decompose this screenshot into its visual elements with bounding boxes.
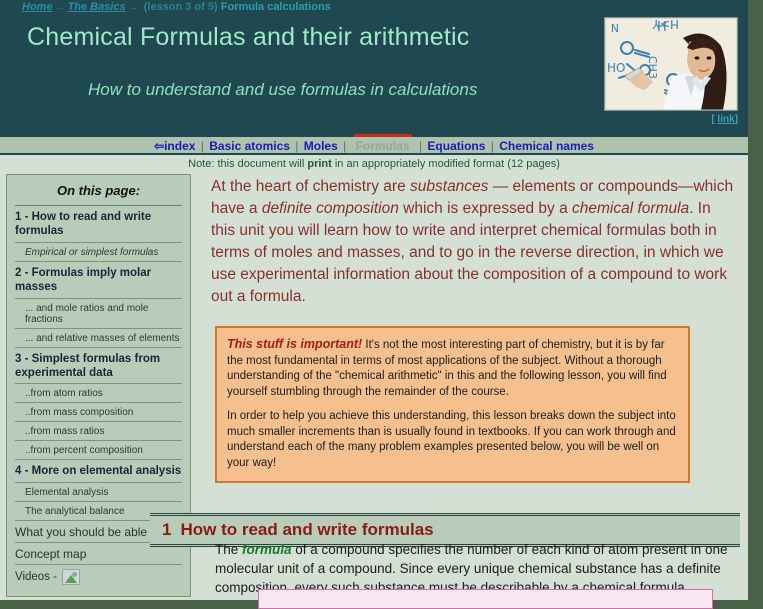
print-note-after: in an appropriately modified format (12 … [332,158,560,170]
callout-paragraph-2: In order to help you achieve this unders… [227,409,678,471]
nav-item-index[interactable]: ⇦index [154,139,195,153]
intro-text-c: which is expressed by a [399,200,572,217]
nav-sep-1: | [199,139,206,153]
section-1-title: How to read and write formulas [180,520,433,539]
toc-item-2-num: 2 - [15,267,32,279]
toc-item-1-num: 1 - [15,211,32,223]
toc-row: 4 - More on elemental analysis [15,459,182,481]
toc-title: On this page: [15,183,182,198]
toc-item-2-1[interactable]: ... and mole ratios and mole fractions [15,303,182,325]
important-callout-box: This stuff is important! It's not the mo… [215,326,690,483]
toc-item-2-label: Formulas imply molar masses [15,267,151,293]
toc-item-4[interactable]: 4 - More on elemental analysis [15,464,182,478]
toc-item-3[interactable]: 3 - Simplest formulas from experimental … [15,352,182,381]
section-1-heading-wrap: 1How to read and write formulas [150,493,740,547]
nav-sep-3: | [341,139,348,153]
section-1-text-a: The [215,542,242,557]
nav-sep-2: | [293,139,300,153]
woman-writing-formulas-illustration: N H H>Y CH3 HO [605,18,737,110]
toc-item-3-num: 3 - [15,353,32,365]
callout-paragraph-1: This stuff is important! It's not the mo… [227,336,678,400]
toc-row: ..from mass ratios [15,421,182,440]
toc-row: ..from percent composition [15,440,182,459]
breadcrumb-arrow-1: → [53,1,68,13]
toc-item-2[interactable]: 2 - Formulas imply molar masses [15,266,182,295]
main-content: At the heart of chemistry are substances… [205,172,740,483]
page-root: Home→The Basics→ (lesson 3 of 5) Formula… [0,0,748,600]
toc-row: ..from atom ratios [15,383,182,402]
nav-item-formulas-current: Formulas [352,139,414,153]
header-image-link[interactable]: [ [ link]link] [711,114,738,125]
intro-text-a: At the heart of chemistry are [211,178,410,195]
toc-item-1-1[interactable]: Empirical or simplest formulas [15,247,182,258]
section-1-em-formula: formula [242,542,292,557]
nav-list: ⇦index | Basic atomics | Moles | Formula… [0,139,748,153]
toc-row: 2 - Formulas imply molar masses [15,261,182,298]
svg-text:CH3: CH3 [646,56,659,79]
toc-item-1[interactable]: 1 - How to read and write formulas [15,210,182,239]
breadcrumb-arrow-2: → [126,1,141,13]
main-nav: ⇦index | Basic atomics | Moles | Formula… [0,135,748,155]
header-photo: N H H>Y CH3 HO [604,17,738,111]
nav-item-equations[interactable]: Equations [427,139,485,153]
breadcrumb-current: Formula calculations [221,1,331,13]
print-note-before: Note: this document will [188,158,307,170]
breadcrumb-lesson-count: (lesson 3 of 5) [144,1,218,13]
toc-item-3-2[interactable]: ..from mass composition [15,407,182,418]
toc-item-3-4[interactable]: ..from percent composition [15,445,182,456]
example-box-partial [258,589,713,609]
toc-row: ..from mass composition [15,402,182,421]
toc-row: ... and mole ratios and mole fractions [15,298,182,328]
page-subtitle: How to understand and use formulas in ca… [88,80,477,100]
breadcrumb-the-basics[interactable]: The Basics [68,1,126,13]
section-1-text-b: of a compound specifies the number of ea… [215,542,728,595]
section-1-number: 1 [162,520,180,539]
breadcrumb-home[interactable]: Home [22,1,53,13]
toc-item-4-label: More on elemental analysis [32,465,182,477]
nav-sep-5: | [489,139,496,153]
intro-em-definite-composition: definite composition [262,200,399,217]
page-title: Chemical Formulas and their arithmetic [27,23,469,52]
toc-item-3-label: Simplest formulas from experimental data [15,353,160,379]
breadcrumb: Home→The Basics→ (lesson 3 of 5) Formula… [22,1,331,15]
toc-videos-label: Videos - [15,571,57,583]
svg-text:N: N [611,21,619,34]
toc-row: ... and relative masses of elements [15,328,182,347]
toc-item-1-label: How to read and write formulas [15,211,151,237]
broken-image-icon [62,569,80,585]
toc-item-2-2[interactable]: ... and relative masses of elements [15,333,182,344]
toc-videos-row[interactable]: Videos - [15,569,182,585]
print-note-bold: print [307,158,331,170]
nav-item-moles[interactable]: Moles [304,139,338,153]
toc-item-concept-map[interactable]: Concept map [15,547,182,561]
nav-item-basic-atomics[interactable]: Basic atomics [209,139,290,153]
intro-em-chemical-formula: chemical formula [572,200,689,217]
svg-text:H>Y: H>Y [652,18,679,31]
nav-item-chemical-names[interactable]: Chemical names [499,139,594,153]
callout-emphasis: This stuff is important! [227,337,362,351]
toc-row: 1 - How to read and write formulas [15,205,182,242]
toc-row: Videos - [15,564,182,588]
toc-item-3-1[interactable]: ..from atom ratios [15,388,182,399]
svg-text:HO: HO [607,61,625,75]
toc-item-3-3[interactable]: ..from mass ratios [15,426,182,437]
toc-row: Empirical or simplest formulas [15,242,182,261]
intro-em-substances: substances [410,178,488,195]
print-note: Note: this document will print in an app… [0,155,748,172]
toc-row: 3 - Simplest formulas from experimental … [15,347,182,384]
intro-paragraph: At the heart of chemistry are substances… [211,176,736,308]
site-header: Home→The Basics→ (lesson 3 of 5) Formula… [0,0,748,135]
toc-item-4-num: 4 - [15,465,32,477]
nav-sep-4: | [417,139,424,153]
